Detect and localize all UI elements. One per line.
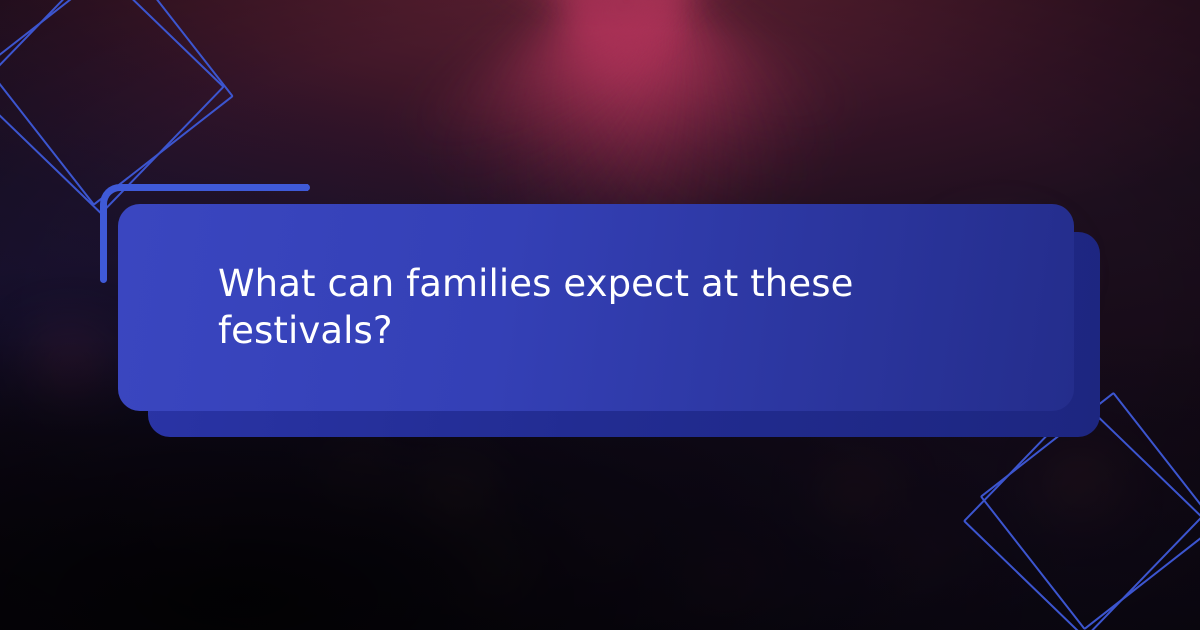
question-card: What can families expect at these festiv… [118,204,1074,411]
outline-square-icon [0,0,234,206]
slide-canvas: What can families expect at these festiv… [0,0,1200,630]
decor-squares-bottom-right [988,420,1200,630]
question-text: What can families expect at these festiv… [218,261,978,354]
